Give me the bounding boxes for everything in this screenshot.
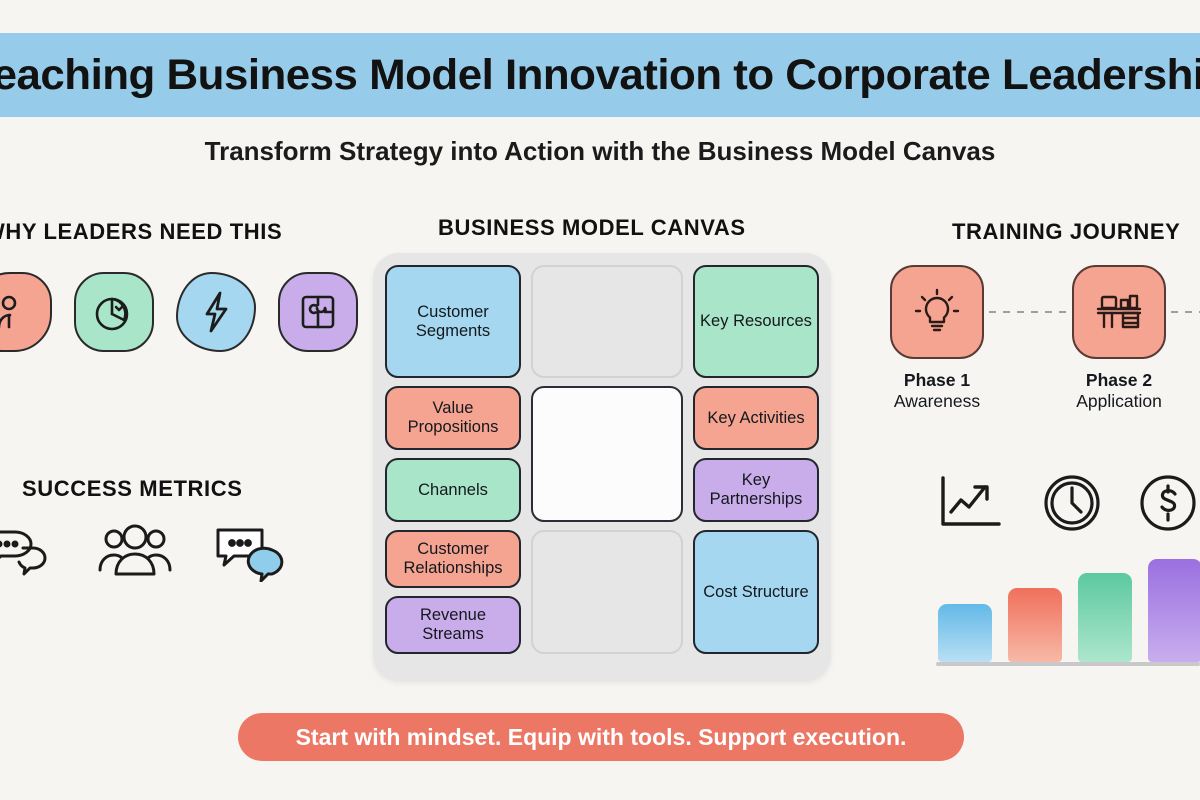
canvas-cell-key-partnerships[interactable]: Key Partnerships bbox=[693, 458, 819, 522]
canvas-cell-key-resources[interactable]: Key Resources bbox=[693, 265, 819, 378]
canvas-cell-channels[interactable]: Channels bbox=[385, 458, 521, 522]
phase-2-name: Application bbox=[1076, 391, 1162, 412]
canvas-cell-key-activities[interactable]: Key Activities bbox=[693, 386, 819, 450]
success-metrics-icon-row bbox=[0, 522, 292, 582]
section-heading-why-leaders: WHY LEADERS NEED THIS bbox=[0, 219, 282, 245]
canvas-cell-revenue-streams[interactable]: Revenue Streams bbox=[385, 596, 521, 654]
bar-4 bbox=[1148, 559, 1200, 662]
business-model-canvas-board: Customer Segments Value Propositions Cha… bbox=[373, 253, 831, 681]
journey-connector-1 bbox=[989, 311, 1067, 313]
stats-bar-chart bbox=[932, 545, 1200, 670]
canvas-cell-value-propositions[interactable]: Value Propositions bbox=[385, 386, 521, 450]
people-group-icon bbox=[96, 522, 174, 582]
canvas-cell-mid-top[interactable] bbox=[531, 265, 683, 378]
dollar-circle-icon bbox=[1137, 472, 1199, 534]
canvas-cell-customer-segments[interactable]: Customer Segments bbox=[385, 265, 521, 378]
canvas-cell-mid-bottom[interactable] bbox=[531, 530, 683, 654]
desk-workspace-icon bbox=[1092, 286, 1146, 338]
bar-1 bbox=[938, 604, 992, 662]
phase-2-label: Phase 2 Application bbox=[1076, 370, 1162, 413]
clock-icon bbox=[1041, 472, 1103, 534]
person-idea-icon bbox=[0, 272, 52, 352]
bar-chart-baseline bbox=[936, 662, 1200, 666]
lightbulb-icon bbox=[911, 286, 963, 338]
journey-phase-1[interactable]: Phase 1 Awareness bbox=[885, 265, 989, 413]
canvas-cell-customer-relationships[interactable]: Customer Relationships bbox=[385, 530, 521, 588]
canvas-cell-cost-structure[interactable]: Cost Structure bbox=[693, 530, 819, 654]
puzzle-piece-icon bbox=[278, 272, 358, 352]
footer-callout-text: Start with mindset. Equip with tools. Su… bbox=[296, 724, 907, 751]
training-journey-row: Phase 1 Awareness Phase 2 Application bbox=[885, 265, 1200, 413]
phase-2-card[interactable] bbox=[1072, 265, 1166, 359]
bar-2 bbox=[1008, 588, 1062, 662]
footer-callout-pill: Start with mindset. Equip with tools. Su… bbox=[238, 713, 964, 761]
page-subtitle: Transform Strategy into Action with the … bbox=[0, 136, 1200, 167]
phase-1-label: Phase 1 Awareness bbox=[894, 370, 980, 413]
canvas-grid: Customer Segments Value Propositions Cha… bbox=[385, 265, 819, 669]
phase-1-number: Phase 1 bbox=[894, 370, 980, 391]
speech-bubbles-icon bbox=[0, 522, 58, 582]
section-heading-success-metrics: SUCCESS METRICS bbox=[22, 476, 242, 502]
journey-connector-2 bbox=[1171, 311, 1200, 313]
journey-phase-2[interactable]: Phase 2 Application bbox=[1067, 265, 1171, 413]
phase-1-card[interactable] bbox=[890, 265, 984, 359]
pie-chart-icon bbox=[74, 272, 154, 352]
chat-pair-icon bbox=[212, 522, 292, 582]
section-heading-training-journey: TRAINING JOURNEY bbox=[952, 219, 1180, 245]
why-leaders-icon-row bbox=[0, 272, 358, 352]
lightning-bolt-icon bbox=[176, 272, 256, 352]
bar-3 bbox=[1078, 573, 1132, 662]
title-banner: Teaching Business Model Innovation to Co… bbox=[0, 33, 1200, 117]
stat-icon-row bbox=[935, 472, 1199, 534]
page-title: Teaching Business Model Innovation to Co… bbox=[0, 51, 1200, 100]
section-heading-canvas: BUSINESS MODEL CANVAS bbox=[438, 215, 746, 241]
growth-chart-icon bbox=[935, 472, 1007, 534]
phase-2-number: Phase 2 bbox=[1076, 370, 1162, 391]
phase-1-name: Awareness bbox=[894, 391, 980, 412]
canvas-cell-mid-center[interactable] bbox=[531, 386, 683, 522]
